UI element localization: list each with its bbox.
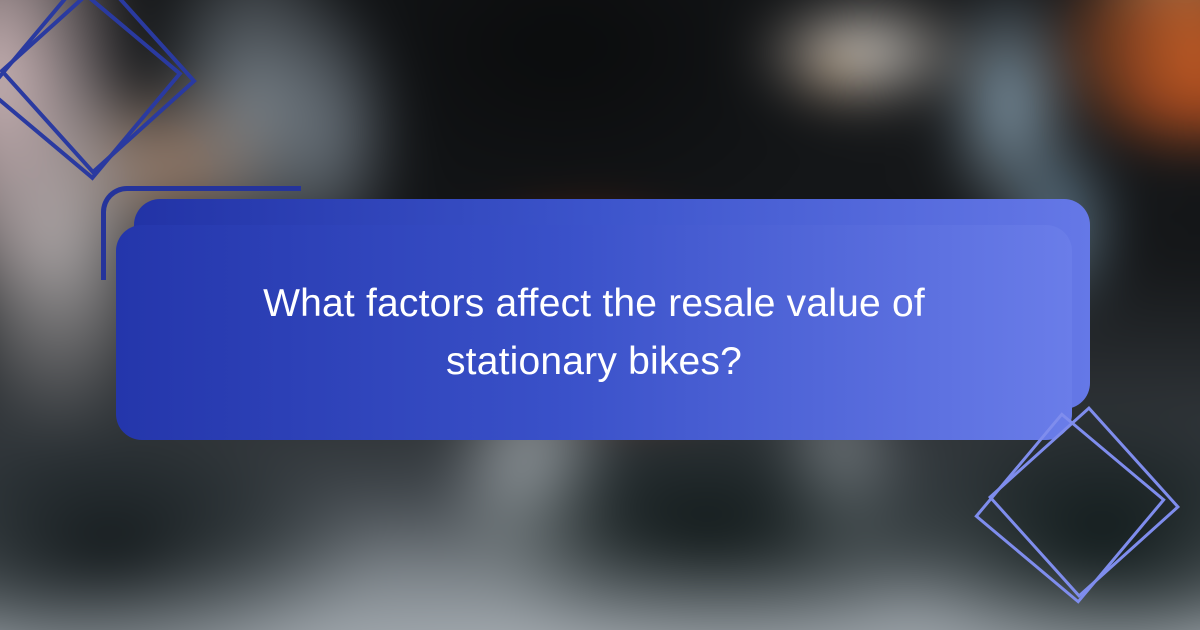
question-card: What factors affect the resale value of … [116,225,1072,440]
question-title: What factors affect the resale value of … [183,275,1005,390]
rotated-square-icon [0,0,197,175]
rotated-square-icon [988,406,1180,598]
decorative-squares-top-left [0,0,230,212]
social-card-canvas: What factors affect the resale value of … [0,0,1200,630]
decorative-squares-bottom-right [968,412,1198,630]
